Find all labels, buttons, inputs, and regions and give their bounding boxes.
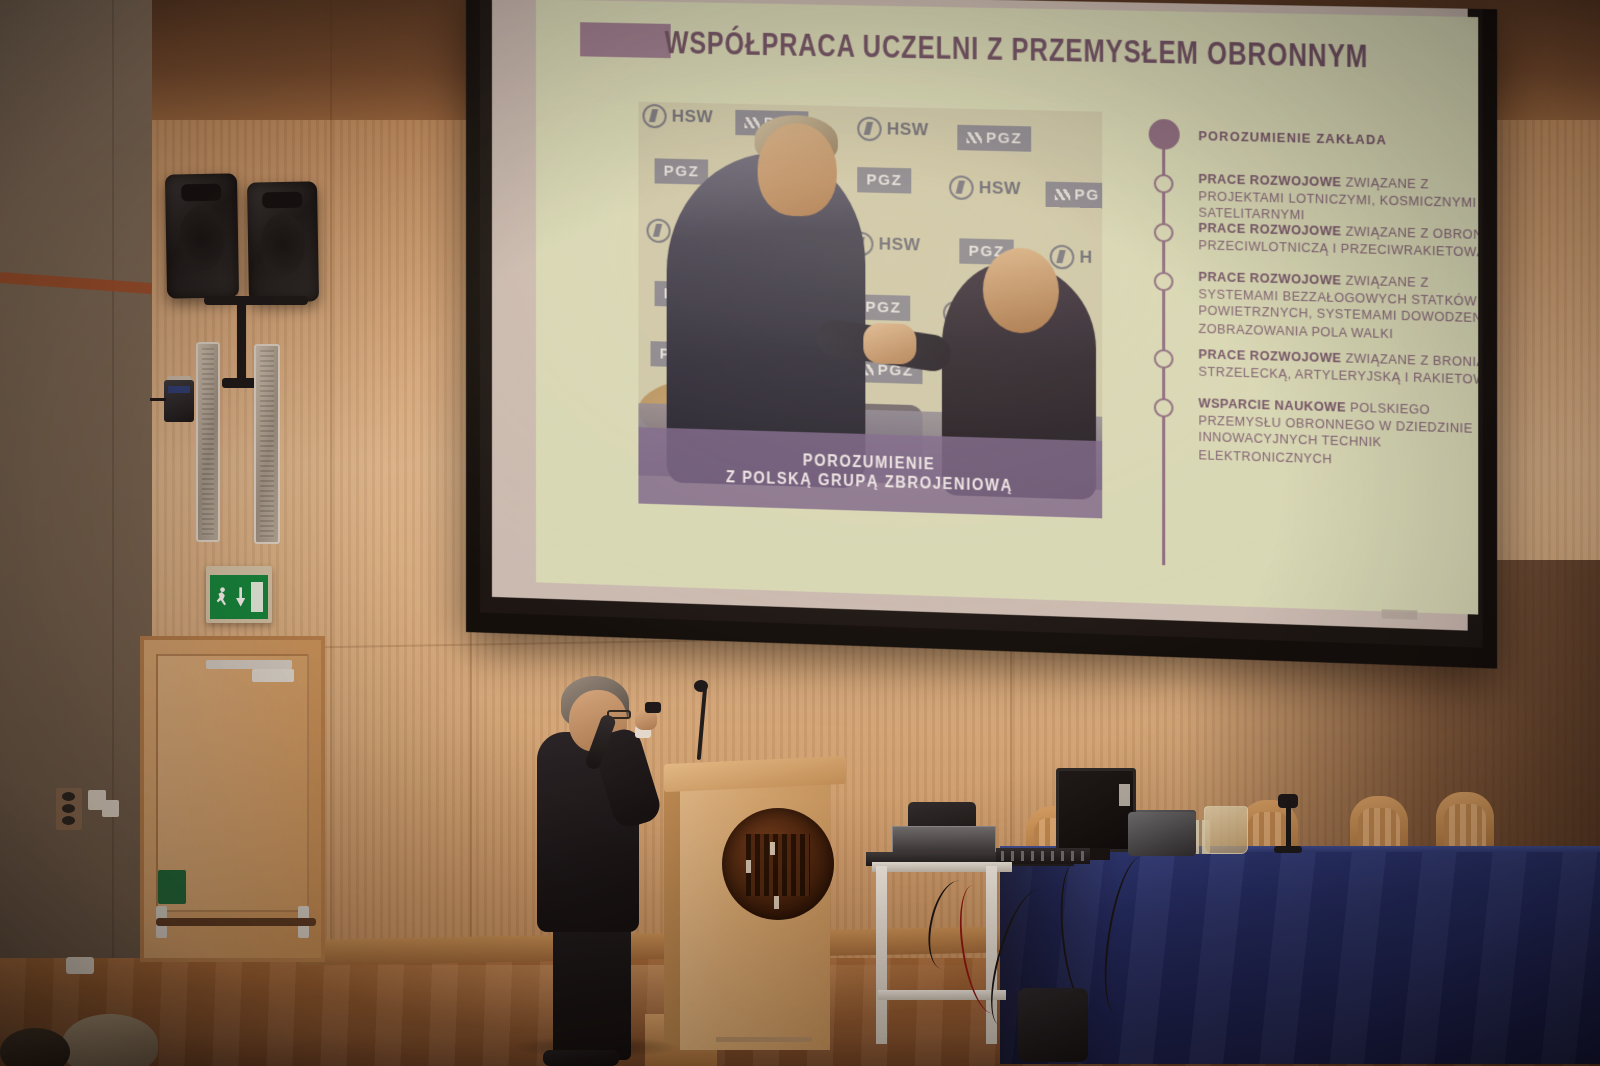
photo-person-left-head <box>758 122 837 217</box>
acoustic-wall-panel <box>0 0 152 1000</box>
av-laptop-secondary <box>1128 812 1196 856</box>
timeline-item-5: WSPARCIE NAUKOWE POLSKIEGO PRZEMYSŁU OBR… <box>1198 395 1478 473</box>
timeline-dot-2 <box>1154 223 1174 243</box>
speaker-bracket <box>204 296 308 305</box>
water-carafe <box>1204 806 1248 854</box>
beltpack-antenna <box>150 398 166 401</box>
photo-handshake-hands <box>863 323 916 365</box>
timeline-item-4: PRACE ROZWOJOWE ZWIĄZANE Z BRONIĄ STRZEL… <box>1198 346 1478 389</box>
column-speaker-left <box>196 342 220 542</box>
audience-head-1 <box>62 1014 158 1066</box>
screen-brand-label <box>1382 609 1418 619</box>
presentation-clicker <box>645 702 661 713</box>
timeline-item-3: PRACE ROZWOJOWE ZWIĄZANE Z SYSTEMAMI BEZ… <box>1198 269 1478 346</box>
table-microphone-base <box>1274 846 1302 853</box>
door-closer-arm <box>206 660 292 669</box>
photo-person-right-head <box>983 247 1059 334</box>
equipment-bag <box>1018 988 1088 1062</box>
presenter <box>525 676 665 1046</box>
projection-screen: WSPÓŁPRACA UCZELNI Z PRZEMYSŁEM OBRONNYM… <box>466 0 1497 669</box>
timeline-dot-5 <box>1154 398 1174 418</box>
down-arrow-icon <box>236 585 245 610</box>
door-closer-body <box>252 669 294 682</box>
photo-caption-line2: Z POLSKĄ GRUPĄ ZBROJENIOWĄ <box>726 469 1013 496</box>
timeline-dot-0 <box>1149 119 1180 150</box>
panic-bar[interactable] <box>156 918 316 926</box>
emergency-exit-door[interactable] <box>140 636 325 962</box>
table-microphone-stem <box>1286 800 1291 852</box>
presenter-shoe <box>543 1050 619 1066</box>
lectern-trim <box>716 1037 812 1042</box>
timeline-dot-1 <box>1154 174 1174 194</box>
timeline-dot-3 <box>1154 272 1174 292</box>
lecture-hall-photo: WSPÓŁPRACA UCZELNI Z PRZEMYSŁEM OBRONNYM… <box>0 0 1600 1066</box>
exit-door-glyph <box>251 582 264 612</box>
screen-surface: WSPÓŁPRACA UCZELNI Z PRZEMYSŁEM OBRONNYM… <box>492 0 1468 631</box>
timeline-item-1-lead: PRACE ROZWOJOWE <box>1198 171 1341 190</box>
connector-panel <box>56 788 82 830</box>
pa-speaker-right <box>247 181 319 302</box>
wall-switch-lower[interactable] <box>102 800 119 817</box>
timeline-item-2: PRACE ROZWOJOWE ZWIĄZANE Z OBRONĄ PRZECI… <box>1198 220 1478 262</box>
slide-photo: HSW PGZ HSW PGZ PGZ HSW PGZ HSW PG HSW P… <box>638 102 1102 519</box>
timeline-dot-4 <box>1154 349 1174 369</box>
presentation-slide: WSPÓŁPRACA UCZELNI Z PRZEMYSŁEM OBRONNYM… <box>536 0 1478 615</box>
photo-caption-line1: POROZUMIENIE <box>803 452 935 474</box>
timeline-heading: POROZUMIENIE ZAKŁADA <box>1198 128 1387 148</box>
pa-speaker-left <box>165 173 239 298</box>
timeline-item-2-lead: PRACE ROZWOJOWE <box>1198 220 1341 239</box>
av-monitor <box>1056 768 1136 852</box>
door-exit-label <box>158 870 186 904</box>
power-socket <box>66 957 94 974</box>
slide-accent-bar <box>580 22 671 58</box>
lectern-emblem <box>722 808 834 920</box>
presenter-legs <box>553 920 631 1060</box>
emergency-exit-sign <box>206 566 272 623</box>
speaker-stand-pole <box>237 300 246 382</box>
wireless-beltpack <box>164 380 194 422</box>
lectern-mic-head <box>694 680 708 692</box>
lectern <box>664 760 846 1050</box>
slide-timeline: POROZUMIENIE ZAKŁADA PRACE ROZWOJOWE ZWI… <box>1138 110 1451 599</box>
chair-4 <box>1436 792 1494 854</box>
running-man-icon <box>215 583 230 610</box>
photo-caption: POROZUMIENIE Z POLSKĄ GRUPĄ ZBROJENIOWĄ <box>638 427 1102 518</box>
slide-title: WSPÓŁPRACA UCZELNI Z PRZEMYSŁEM OBRONNYM <box>665 26 1447 78</box>
presenter-hand <box>635 710 657 730</box>
column-speaker-right <box>254 344 280 544</box>
